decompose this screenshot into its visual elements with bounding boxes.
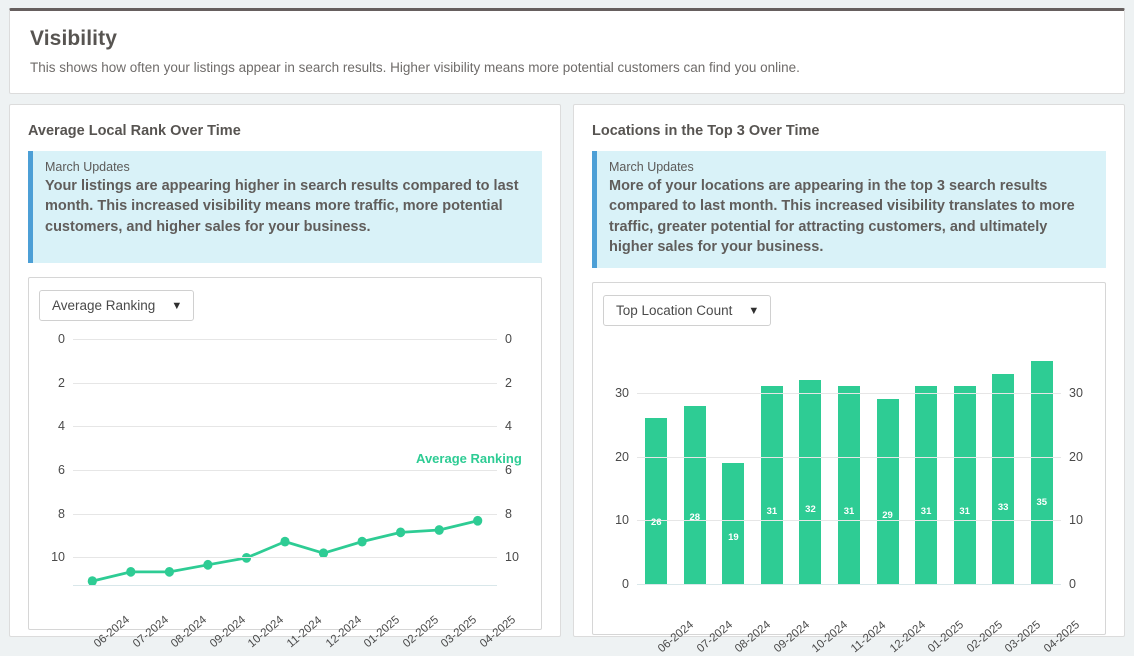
y-tick-label: 8 <box>58 507 65 520</box>
x-axis-line: 06-202407-202408-202409-202410-202411-20… <box>73 627 497 656</box>
x-tick-slot: 08-2024 <box>714 632 753 656</box>
page-description: This shows how often your listings appea… <box>30 60 1104 75</box>
y-tick-label: 2 <box>505 376 512 389</box>
bar-series: 2628193132312931313335 <box>637 336 1061 584</box>
y-tick-label: 10 <box>505 551 519 564</box>
x-tick-slot: 04-2025 <box>1022 632 1061 656</box>
bar-value-label: 26 <box>651 517 662 528</box>
x-tick-slot: 12-2024 <box>304 627 343 656</box>
data-point[interactable] <box>358 537 367 547</box>
data-point[interactable] <box>396 527 405 537</box>
bar[interactable]: 32 <box>799 380 821 584</box>
bar-value-label: 31 <box>959 506 970 517</box>
line-series-svg <box>73 331 497 627</box>
y-axis-left-bar: 0102030 <box>603 336 629 632</box>
bar-slot: 19 <box>714 336 753 584</box>
x-tick-slot: 11-2024 <box>266 627 305 656</box>
metric-select-top-location-count[interactable]: Top Location Count ▼ <box>603 295 771 326</box>
y-tick-label: 10 <box>615 514 629 527</box>
data-point[interactable] <box>435 525 444 535</box>
gridline <box>73 426 497 427</box>
x-axis-line-baseline <box>73 585 497 586</box>
callout-body-right: More of your locations are appearing in … <box>609 176 1094 257</box>
bar[interactable]: 31 <box>954 386 976 584</box>
bar-slot: 31 <box>830 336 869 584</box>
bar-value-label: 31 <box>767 506 778 517</box>
x-axis-bar: 06-202407-202408-202409-202410-202411-20… <box>637 632 1061 656</box>
x-tick-slot: 03-2025 <box>984 632 1023 656</box>
gridline <box>637 393 1061 394</box>
gridline <box>73 339 497 340</box>
bar-slot: 31 <box>945 336 984 584</box>
panel-average-local-rank: Average Local Rank Over Time March Updat… <box>9 104 561 637</box>
bar-slot: 26 <box>637 336 676 584</box>
y-tick-label: 4 <box>505 420 512 433</box>
x-tick-slot: 10-2024 <box>227 627 266 656</box>
panel-locations-top-3: Locations in the Top 3 Over Time March U… <box>573 104 1125 637</box>
page-title: Visibility <box>30 27 1104 51</box>
bar-slot: 33 <box>984 336 1023 584</box>
y-axis-right-bar: 0102030 <box>1069 336 1095 632</box>
x-tick-slot: 07-2024 <box>112 627 151 656</box>
metric-select-right-value: Top Location Count <box>616 303 732 318</box>
page-root: Visibility This shows how often your lis… <box>0 0 1134 656</box>
x-tick-slot: 06-2024 <box>73 627 112 656</box>
bar-value-label: 35 <box>1036 497 1047 508</box>
x-tick-slot: 12-2024 <box>868 632 907 656</box>
bar[interactable]: 29 <box>877 399 899 584</box>
bar-chart: 0102030 0102030 2628193132312931313335 0… <box>603 336 1095 632</box>
bar[interactable]: 26 <box>645 418 667 584</box>
y-axis-left-line: 0246810 <box>39 331 65 627</box>
chevron-down-icon: ▼ <box>748 305 759 317</box>
x-tick-slot: 01-2025 <box>907 632 946 656</box>
x-axis-bar-baseline <box>637 584 1061 585</box>
line-chart: 0246810 0246810 Average Ranking 06-20240… <box>39 331 531 627</box>
x-tick-slot: 04-2025 <box>458 627 497 656</box>
x-tick-slot: 10-2024 <box>791 632 830 656</box>
bar-slot: 28 <box>676 336 715 584</box>
callout-right: March Updates More of your locations are… <box>592 151 1106 268</box>
y-tick-label: 2 <box>58 376 65 389</box>
data-point[interactable] <box>473 516 482 526</box>
plot-area-bar: 2628193132312931313335 <box>637 336 1061 632</box>
y-tick-label: 0 <box>622 578 629 591</box>
y-tick-label: 0 <box>58 333 65 346</box>
x-tick-slot: 06-2024 <box>637 632 676 656</box>
chart-frame-right: Top Location Count ▼ 0102030 0102030 262… <box>592 282 1106 635</box>
x-tick-slot: 09-2024 <box>753 632 792 656</box>
y-tick-label: 0 <box>1069 578 1076 591</box>
y-tick-label: 8 <box>505 507 512 520</box>
plot-area-line <box>73 331 497 627</box>
bar-slot: 29 <box>868 336 907 584</box>
bar-value-label: 31 <box>921 506 932 517</box>
gridline <box>637 520 1061 521</box>
y-axis-right-line: 0246810 <box>505 331 531 627</box>
y-tick-label: 30 <box>615 387 629 400</box>
bar-value-label: 19 <box>728 532 739 543</box>
panel-title-right: Locations in the Top 3 Over Time <box>592 123 1106 139</box>
bar[interactable]: 19 <box>722 463 744 584</box>
bar[interactable]: 35 <box>1031 361 1053 584</box>
y-tick-label: 30 <box>1069 387 1083 400</box>
y-tick-label: 0 <box>505 333 512 346</box>
callout-kicker-right: March Updates <box>609 160 1094 174</box>
metric-select-average-ranking[interactable]: Average Ranking ▼ <box>39 290 194 321</box>
line-path <box>92 521 477 581</box>
gridline <box>73 470 497 471</box>
callout-left: March Updates Your listings are appearin… <box>28 151 542 263</box>
x-tick-slot: 02-2025 <box>945 632 984 656</box>
chevron-down-icon: ▼ <box>171 300 182 312</box>
y-tick-label: 10 <box>51 551 65 564</box>
gridline <box>73 383 497 384</box>
x-tick-slot: 11-2024 <box>830 632 869 656</box>
bar[interactable]: 31 <box>838 386 860 584</box>
callout-kicker-left: March Updates <box>45 160 530 174</box>
gridline <box>637 457 1061 458</box>
y-tick-label: 10 <box>1069 514 1083 527</box>
visibility-header-card: Visibility This shows how often your lis… <box>9 8 1125 94</box>
bar-value-label: 33 <box>998 502 1009 513</box>
bar-value-label: 32 <box>805 504 816 515</box>
x-tick-slot: 03-2025 <box>420 627 459 656</box>
x-tick-slot: 09-2024 <box>189 627 228 656</box>
data-point[interactable] <box>280 537 289 547</box>
y-tick-label: 6 <box>58 464 65 477</box>
bar-slot: 31 <box>753 336 792 584</box>
bar[interactable]: 31 <box>915 386 937 584</box>
bar-slot: 31 <box>907 336 946 584</box>
bar[interactable]: 33 <box>992 374 1014 584</box>
y-tick-label: 20 <box>615 450 629 463</box>
bar[interactable]: 31 <box>761 386 783 584</box>
bar-slot: 35 <box>1022 336 1061 584</box>
x-tick-slot: 08-2024 <box>150 627 189 656</box>
metric-select-left-value: Average Ranking <box>52 298 155 313</box>
callout-body-left: Your listings are appearing higher in se… <box>45 176 530 237</box>
bar-slot: 32 <box>791 336 830 584</box>
bar-value-label: 31 <box>844 506 855 517</box>
data-point[interactable] <box>126 567 135 577</box>
data-point[interactable] <box>203 560 212 570</box>
y-tick-label: 20 <box>1069 450 1083 463</box>
panel-title-left: Average Local Rank Over Time <box>28 123 542 139</box>
charts-row: Average Local Rank Over Time March Updat… <box>9 104 1125 637</box>
gridline <box>73 557 497 558</box>
y-tick-label: 4 <box>58 420 65 433</box>
x-tick-slot: 02-2025 <box>381 627 420 656</box>
data-point[interactable] <box>165 567 174 577</box>
x-tick-slot: 01-2025 <box>343 627 382 656</box>
bar[interactable]: 28 <box>684 406 706 585</box>
bar-value-label: 28 <box>690 512 701 523</box>
series-label-average-ranking: Average Ranking <box>416 451 522 466</box>
gridline <box>73 514 497 515</box>
chart-frame-left: Average Ranking ▼ 0246810 0246810 Averag… <box>28 277 542 630</box>
x-tick-slot: 07-2024 <box>676 632 715 656</box>
